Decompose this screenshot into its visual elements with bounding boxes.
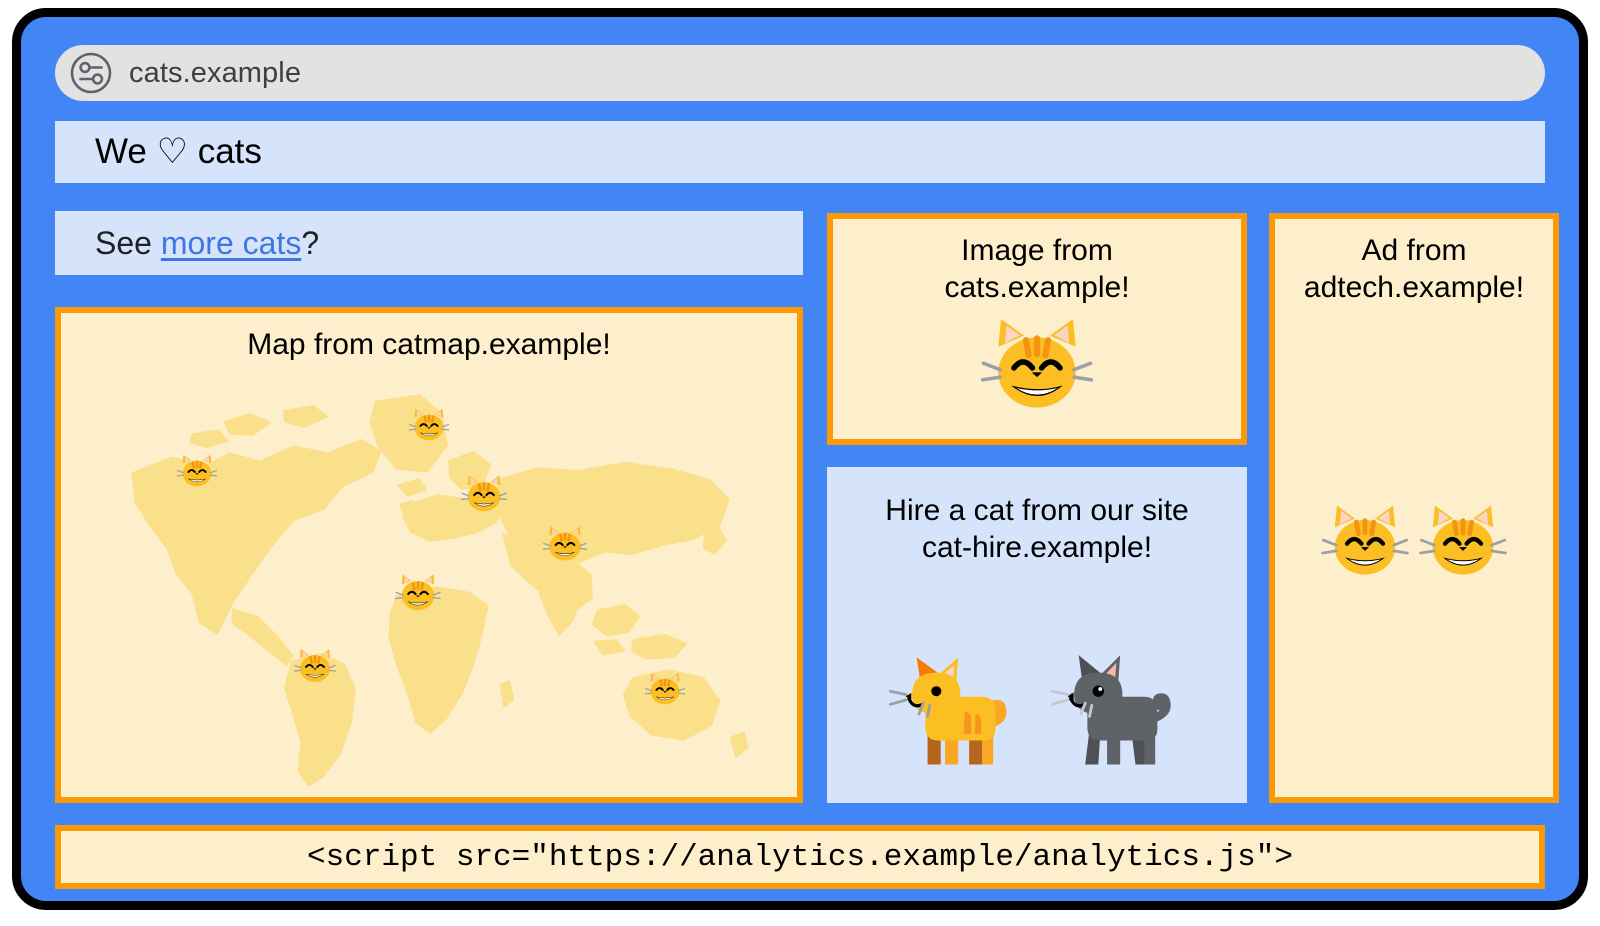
map-panel-title: Map from catmap.example! bbox=[61, 327, 797, 364]
ad-panel-title: Ad from adtech.example! bbox=[1275, 233, 1553, 306]
url-text: cats.example bbox=[129, 57, 301, 90]
ad-panel[interactable]: Ad from adtech.example! bbox=[1269, 213, 1559, 803]
link-sentence: See more cats? bbox=[95, 225, 319, 262]
url-bar[interactable]: cats.example bbox=[55, 45, 1545, 101]
grinning-cat-icon bbox=[540, 520, 590, 570]
analytics-script-banner: <script src="https://analytics.example/a… bbox=[55, 825, 1545, 889]
page-title: We ♡ cats bbox=[95, 132, 262, 172]
grinning-cat-face-icon bbox=[978, 308, 1096, 431]
browser-window: cats.example We ♡ cats See more cats? Ma… bbox=[12, 8, 1588, 910]
ad-artwork bbox=[1275, 497, 1553, 594]
grinning-cat-icon bbox=[458, 469, 510, 521]
image-panel: Image from cats.example! bbox=[827, 213, 1247, 445]
hire-cats-artwork bbox=[827, 642, 1247, 787]
more-cats-link[interactable]: more cats bbox=[161, 225, 301, 261]
headline-banner: We ♡ cats bbox=[55, 121, 1545, 183]
grinning-cat-icon bbox=[392, 568, 444, 620]
tune-sliders-icon[interactable] bbox=[69, 51, 113, 95]
link-prefix: See bbox=[95, 225, 161, 261]
grinning-cat-icon bbox=[174, 449, 220, 495]
image-panel-title: Image from cats.example! bbox=[833, 233, 1241, 306]
link-suffix: ? bbox=[301, 225, 319, 261]
grinning-cat-icon bbox=[406, 403, 452, 449]
grinning-cat-face-icon bbox=[1417, 497, 1509, 594]
grinning-cat-icon bbox=[291, 643, 339, 691]
hire-panel: Hire a cat from our site cat-hire.exampl… bbox=[827, 467, 1247, 803]
grinning-cat-face-icon bbox=[1319, 497, 1411, 594]
more-cats-banner: See more cats? bbox=[55, 211, 803, 275]
hire-panel-title: Hire a cat from our site cat-hire.exampl… bbox=[827, 493, 1247, 566]
script-tag-code: <script src="https://analytics.example/a… bbox=[307, 840, 1293, 875]
map-panel: Map from catmap.example! bbox=[55, 307, 803, 803]
gray-cat-body-icon bbox=[1048, 642, 1188, 787]
orange-cat-body-icon bbox=[886, 642, 1026, 787]
map-stage[interactable] bbox=[61, 371, 797, 791]
grinning-cat-icon bbox=[642, 667, 688, 713]
